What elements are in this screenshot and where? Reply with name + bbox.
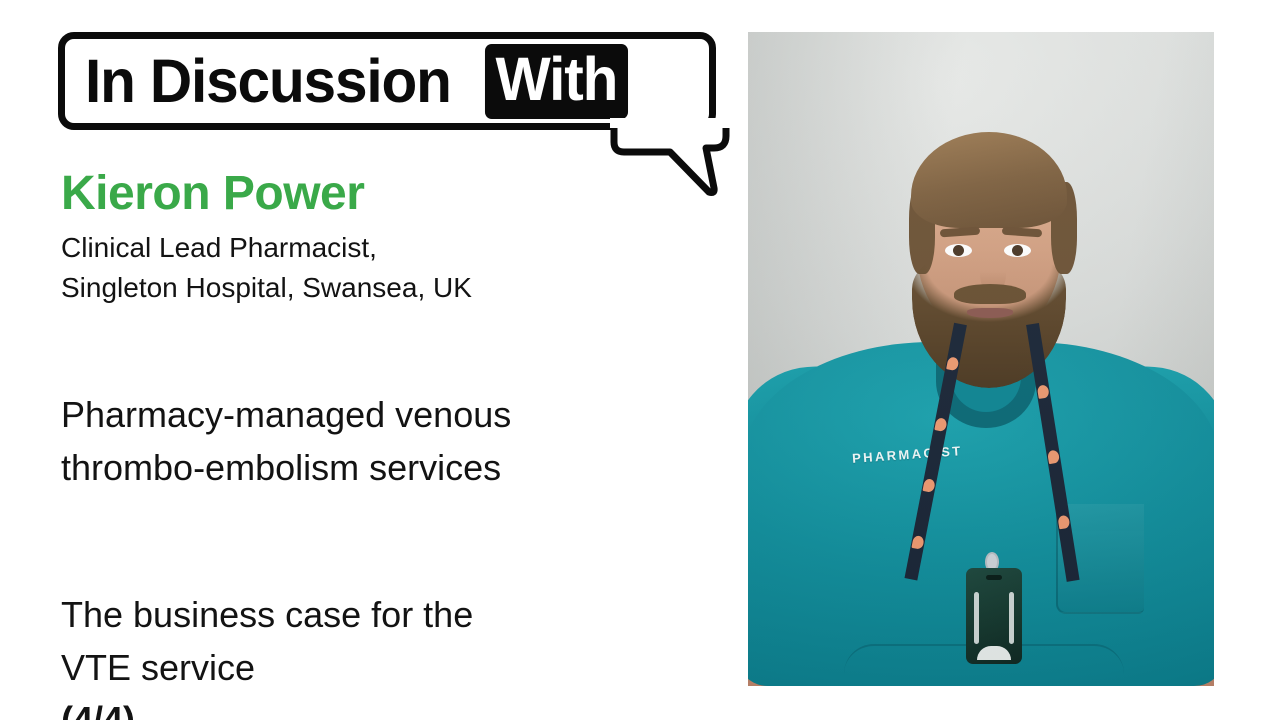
- speech-bubble-tail-icon: [610, 118, 730, 196]
- logo-text-row: In Discussion With: [65, 39, 709, 123]
- episode-part-badge: (4/4): [61, 699, 135, 720]
- presenter-photo: PHARMACIST: [748, 32, 1214, 686]
- role-line-1: Clinical Lead Pharmacist,: [61, 228, 472, 268]
- slide-canvas: In Discussion With Kieron Power Clinical…: [0, 0, 1280, 720]
- id-badge-holder: [966, 568, 1022, 664]
- photo-subject: PHARMACIST: [748, 32, 1214, 686]
- topic-title: Pharmacy-managed venous thrombo-embolism…: [61, 389, 511, 494]
- brand-logo: In Discussion With: [58, 32, 716, 164]
- episode-line-1: The business case for the: [61, 589, 473, 642]
- episode-subtitle: The business case for the VTE service (4…: [61, 589, 473, 720]
- presenter-role: Clinical Lead Pharmacist, Singleton Hosp…: [61, 228, 472, 308]
- subject-hair: [911, 132, 1067, 228]
- logo-text-with: With: [485, 44, 628, 119]
- speech-bubble-box: In Discussion With: [58, 32, 716, 130]
- role-line-2: Singleton Hospital, Swansea, UK: [61, 268, 472, 308]
- subject-mustache: [954, 284, 1026, 304]
- topic-line-2: thrombo-embolism services: [61, 442, 511, 495]
- topic-line-1: Pharmacy-managed venous: [61, 389, 511, 442]
- subject-mouth: [967, 308, 1013, 318]
- logo-text-in-discussion: In Discussion: [85, 51, 451, 112]
- text-column: In Discussion With Kieron Power Clinical…: [0, 0, 740, 720]
- episode-line-2: VTE service (4/4): [61, 642, 473, 720]
- presenter-name: Kieron Power: [61, 168, 364, 220]
- episode-line-2-text: VTE service: [61, 642, 473, 695]
